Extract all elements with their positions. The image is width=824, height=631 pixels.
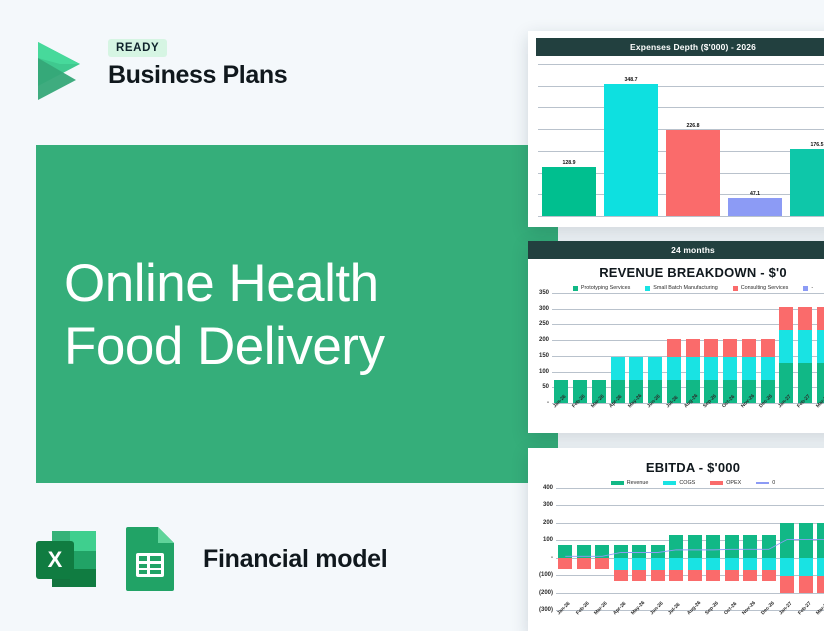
chart-card-expenses[interactable]: Expenses Depth ($'000) - 2026 128.9348.7… [528,31,824,227]
bar-segment[interactable] [686,339,700,358]
bar-column[interactable]: 176.5 [786,64,824,216]
bar-column[interactable] [552,293,571,403]
ebitda-plot-area: 400300200100-(100)(200)(300) [556,488,824,610]
bar-segment-revenue[interactable] [688,535,702,558]
revenue-x-axis-labels: Jan-26Feb-26Mar-26Apr-26May-26Jun-26Jul-… [528,403,824,411]
bar-segment[interactable] [651,570,665,581]
bar-segment[interactable] [577,558,591,569]
bar-segment[interactable] [688,558,702,570]
bar-segment[interactable] [742,339,756,358]
legend-swatch-icon [733,286,738,291]
y-tick-label: (300) [539,607,553,613]
bar-column[interactable] [556,488,575,610]
bar-column[interactable] [740,293,759,403]
ebitda-x-axis-labels: Jan-26Feb-26Mar-26Apr-26May-26Jun-26Jul-… [528,610,824,618]
positive-stack [799,488,813,558]
financial-model-label: Financial model [203,545,387,574]
bar-column[interactable] [815,488,824,610]
bar-column[interactable] [646,293,665,403]
legend-swatch-icon [803,286,808,291]
bar-segment[interactable] [669,570,683,581]
y-tick-label: 300 [539,306,549,312]
bar-segment[interactable] [742,357,756,379]
positive-stack [762,488,776,558]
bar-segment[interactable] [614,570,628,581]
y-tick-label: 100 [539,369,549,375]
bar-column[interactable] [627,293,646,403]
bar-column[interactable] [686,488,705,610]
chart-card-ebitda[interactable]: EBITDA - $'000 RevenueCOGSOPEX0 40030020… [528,448,824,631]
y-tick-label: (200) [539,590,553,596]
expenses-bars: 128.9348.7226.847.1176.5 [538,64,824,216]
bar-column[interactable] [778,488,797,610]
bar-segment[interactable] [817,558,824,576]
y-tick-label: 400 [543,485,553,491]
positive-stack [688,488,702,558]
bar-column[interactable]: 47.1 [724,64,786,216]
bar-segment-revenue[interactable] [743,535,757,558]
formats-row: X Financial model [30,523,387,595]
bar[interactable] [604,84,658,217]
y-tick-label: 50 [542,384,549,390]
bar-segment[interactable] [651,558,665,570]
bar-segment[interactable] [723,339,737,358]
y-tick-label: 100 [543,537,553,543]
legend-item: Prototyping Services [573,285,630,291]
bar-column[interactable] [758,293,777,403]
bar-segment[interactable] [723,357,737,379]
legend-swatch-icon [645,286,650,291]
bar-segment[interactable] [762,570,776,581]
positive-stack [706,488,720,558]
bar-column[interactable] [796,293,815,403]
bar-column[interactable] [649,488,668,610]
bar-segment[interactable] [686,357,700,379]
legend-item: - [803,285,813,291]
bar-segment-revenue[interactable] [706,535,720,558]
bar-segment[interactable] [817,330,824,363]
legend-swatch-icon [756,482,769,484]
bar-segment[interactable] [614,558,628,570]
y-tick-label: 350 [539,290,549,296]
revenue-plot-wrap: 35030025020015010050- [528,293,824,403]
y-tick-label: 200 [543,520,553,526]
bar-segment-revenue[interactable] [577,545,591,558]
expenses-chart-title: Expenses Depth ($'000) - 2026 [536,38,824,56]
ready-badge: READY [108,39,167,57]
positive-stack [577,488,591,558]
bar-segment[interactable] [648,357,662,379]
bar-column[interactable]: 348.7 [600,64,662,216]
bar-segment[interactable] [799,558,813,576]
bar-segment-revenue[interactable] [725,535,739,558]
bar-value-label: 128.9 [538,160,600,166]
bar-segment-revenue[interactable] [632,545,646,558]
revenue-banner: 24 months [528,241,824,259]
play-triangle-logo-icon [26,28,94,100]
bar-column[interactable] [593,488,612,610]
bar-segment[interactable] [799,576,813,593]
legend-swatch-icon [710,481,723,485]
bar-column[interactable] [723,488,742,610]
y-tick-label: - [547,400,549,406]
legend-swatch-icon [663,481,676,485]
ebitda-legend: RevenueCOGSOPEX0 [528,477,824,488]
slide-canvas: READY Business Plans Online Health Food … [0,0,824,631]
gridline [538,216,824,217]
legend-label: Small Batch Manufacturing [653,285,717,291]
legend-item: OPEX [710,480,741,486]
revenue-plot-area: 35030025020015010050- [552,293,824,403]
positive-stack [725,488,739,558]
bar-value-label: 226.8 [662,123,724,129]
revenue-bars [552,293,824,403]
bar-segment[interactable] [725,558,739,570]
bar-column[interactable] [590,293,609,403]
legend-swatch-icon [611,481,624,485]
bar-segment[interactable] [762,558,776,570]
bar-segment[interactable] [779,307,793,330]
y-tick-label: 250 [539,321,549,327]
positive-stack [651,488,665,558]
bar-segment[interactable] [632,570,646,581]
y-tick-label: 300 [543,502,553,508]
bar-value-label: 176.5 [786,142,824,148]
bar-segment[interactable] [629,357,643,379]
bar-segment-revenue[interactable] [817,523,824,558]
bar-segment[interactable] [667,357,681,379]
positive-stack [614,488,628,558]
bar-column[interactable] [612,488,631,610]
legend-label: - [811,285,813,291]
bar-column[interactable] [815,293,824,403]
bar[interactable] [728,198,782,216]
bar-value-label: 47.1 [724,191,786,197]
bar-segment[interactable] [704,357,718,379]
legend-item: 0 [756,480,775,486]
positive-stack [780,488,794,558]
microsoft-excel-icon: X [30,523,102,595]
expenses-plot-area: 128.9348.7226.847.1176.5 [538,64,824,216]
bar-segment[interactable] [817,576,824,593]
bar-column[interactable] [575,488,594,610]
bar-segment[interactable] [558,558,572,569]
y-tick-label: - [551,555,553,561]
brand-lockup: READY Business Plans [26,28,287,100]
brand-text: READY Business Plans [108,39,287,90]
bar[interactable] [542,167,596,216]
revenue-chart-title: REVENUE BREAKDOWN - $'0 [528,265,824,280]
revenue-legend: Prototyping ServicesSmall Batch Manufact… [528,282,824,293]
bar-segment[interactable] [725,570,739,581]
legend-label: Prototyping Services [581,285,630,291]
svg-text:X: X [48,547,63,572]
bar-column[interactable] [630,488,649,610]
ebitda-bars [556,488,824,610]
legend-label: Consulting Services [741,285,789,291]
bar-column[interactable] [704,488,723,610]
bar-column[interactable] [721,293,740,403]
page-title: Online Health Food Delivery [64,252,534,378]
bar-column[interactable] [797,488,816,610]
legend-label: Revenue [627,480,649,486]
positive-stack [558,488,572,558]
bar-segment[interactable] [780,558,794,576]
ebitda-plot-wrap: 400300200100-(100)(200)(300) [528,488,824,610]
brand-name: Business Plans [108,61,287,90]
bar-segment-revenue[interactable] [799,523,813,558]
bar-segment[interactable] [704,339,718,358]
bar-column[interactable] [777,293,796,403]
legend-label: OPEX [726,480,741,486]
chart-card-revenue[interactable]: 24 months REVENUE BREAKDOWN - $'0 Protot… [528,241,824,433]
bar-segment[interactable] [632,558,646,570]
bar-segment[interactable] [706,558,720,570]
legend-item: COGS [663,480,695,486]
bar-segment-revenue[interactable] [651,545,665,558]
bar-segment-revenue[interactable] [780,523,794,558]
bar-segment[interactable] [669,558,683,570]
bar-segment[interactable] [611,357,625,379]
bar-column[interactable] [683,293,702,403]
bar-column[interactable] [665,293,684,403]
positive-stack [817,488,824,558]
bar-segment[interactable] [761,357,775,379]
bar-segment[interactable] [706,570,720,581]
bar-segment[interactable] [743,558,757,570]
positive-stack [595,488,609,558]
bar-column[interactable]: 226.8 [662,64,724,216]
bar-segment[interactable] [761,339,775,358]
bar-segment[interactable] [817,307,824,330]
bar[interactable] [790,149,824,216]
y-tick-label: 200 [539,337,549,343]
bar-column[interactable]: 128.9 [538,64,600,216]
bar-value-label: 348.7 [600,77,662,83]
legend-label: COGS [679,480,695,486]
legend-item: Consulting Services [733,285,789,291]
legend-item: Small Batch Manufacturing [645,285,717,291]
legend-item: Revenue [611,480,649,486]
bar-segment[interactable] [743,570,757,581]
bar-column[interactable] [571,293,590,403]
bar-column[interactable] [741,488,760,610]
bar-column[interactable] [608,293,627,403]
bar-segment[interactable] [779,330,793,363]
bar-segment-revenue[interactable] [762,535,776,558]
y-tick-label: 150 [539,353,549,359]
legend-label: 0 [772,480,775,486]
bar-segment[interactable] [798,307,812,330]
y-tick-label: (100) [539,572,553,578]
positive-stack [743,488,757,558]
bar-column[interactable] [667,488,686,610]
bar[interactable] [666,130,720,216]
ebitda-chart-title: EBITDA - $'000 [528,460,824,475]
bar-segment[interactable] [798,330,812,363]
positive-stack [669,488,683,558]
bar-segment-revenue[interactable] [614,545,628,558]
positive-stack [632,488,646,558]
legend-swatch-icon [573,286,578,291]
bar-segment-revenue[interactable] [669,535,683,558]
bar-column[interactable] [702,293,721,403]
bar-column[interactable] [760,488,779,610]
bar-segment-revenue[interactable] [595,545,609,558]
bar-segment[interactable] [780,576,794,593]
google-sheets-icon [118,523,181,595]
bar-segment-revenue[interactable] [558,545,572,558]
bar-segment[interactable] [688,570,702,581]
bar-segment[interactable] [595,558,609,569]
bar-segment[interactable] [667,339,681,358]
